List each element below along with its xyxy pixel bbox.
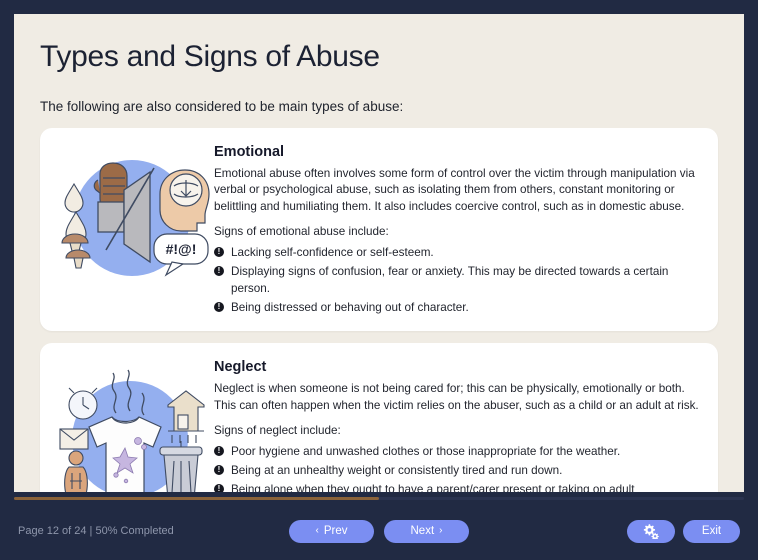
chevron-right-icon: ›: [439, 526, 442, 536]
list-item: Being at an unhealthy weight or consiste…: [214, 463, 700, 479]
card-paragraph: Neglect is when someone is not being car…: [214, 381, 700, 414]
list-item-text: Being at an unhealthy weight or consiste…: [231, 464, 562, 477]
card-emotional: #!@! Emotional Emotional abuse often inv…: [40, 128, 718, 331]
list-item: Being distressed or behaving out of char…: [214, 300, 700, 316]
card-heading: Neglect: [214, 359, 700, 375]
card-neglect: Neglect Neglect is when someone is not b…: [40, 343, 718, 492]
list-item: Lacking self-confidence or self-esteem.: [214, 245, 700, 261]
signs-list: Poor hygiene and unwashed clothes or tho…: [214, 444, 700, 492]
content-panel: Types and Signs of Abuse The following a…: [14, 14, 744, 492]
card-paragraph: Emotional abuse often involves some form…: [214, 166, 700, 216]
list-item-text: Being alone when they ought to have a pa…: [231, 483, 635, 492]
card-neglect-body: Neglect Neglect is when someone is not b…: [214, 353, 700, 492]
progress-bar-fill: [14, 497, 379, 500]
signs-label: Signs of emotional abuse include:: [214, 225, 700, 238]
exclamation-circle-icon: [214, 484, 224, 492]
list-item: Being alone when they ought to have a pa…: [214, 482, 700, 492]
exclamation-circle-icon: [214, 247, 224, 257]
signs-label: Signs of neglect include:: [214, 424, 700, 437]
cogs-icon: [642, 523, 660, 539]
next-button[interactable]: Next ›: [384, 520, 469, 543]
intro-text: The following are also considered to be …: [40, 99, 718, 114]
list-item: Displaying signs of confusion, fear or a…: [214, 264, 700, 296]
emotional-abuse-illustration-svg: #!@!: [50, 146, 210, 296]
footer-bar: Page 12 of 24 | 50% Completed ‹ Prev Nex…: [0, 502, 758, 560]
card-heading: Emotional: [214, 144, 700, 160]
list-item-text: Lacking self-confidence or self-esteem.: [231, 246, 434, 259]
exit-button[interactable]: Exit: [683, 520, 740, 543]
exit-button-label: Exit: [702, 525, 721, 537]
chevron-left-icon: ‹: [316, 526, 319, 536]
emotional-abuse-illustration: #!@!: [46, 138, 214, 319]
page-title: Types and Signs of Abuse: [40, 40, 718, 75]
list-item-text: Being distressed or behaving out of char…: [231, 301, 469, 314]
exclamation-circle-icon: [214, 446, 224, 456]
prev-button[interactable]: ‹ Prev: [289, 520, 374, 543]
exclamation-circle-icon: [214, 465, 224, 475]
neglect-illustration: [46, 353, 214, 492]
page-status-text: Page 12 of 24 | 50% Completed: [18, 525, 174, 537]
footer-right-group: Exit: [627, 520, 740, 543]
card-emotional-body: Emotional Emotional abuse often involves…: [214, 138, 700, 319]
exclamation-circle-icon: [214, 302, 224, 312]
list-item-text: Displaying signs of confusion, fear or a…: [231, 265, 668, 294]
prev-button-label: Prev: [324, 525, 348, 537]
settings-button[interactable]: [627, 520, 675, 543]
neglect-illustration-svg: [50, 361, 210, 492]
signs-list: Lacking self-confidence or self-esteem. …: [214, 245, 700, 316]
speech-bubble-text: #!@!: [166, 241, 197, 257]
progress-bar-track: [14, 497, 744, 500]
slide-frame: Types and Signs of Abuse The following a…: [0, 0, 758, 560]
list-item-text: Poor hygiene and unwashed clothes or tho…: [231, 445, 620, 458]
exclamation-circle-icon: [214, 266, 224, 276]
list-item: Poor hygiene and unwashed clothes or tho…: [214, 444, 700, 460]
next-button-label: Next: [411, 525, 435, 537]
